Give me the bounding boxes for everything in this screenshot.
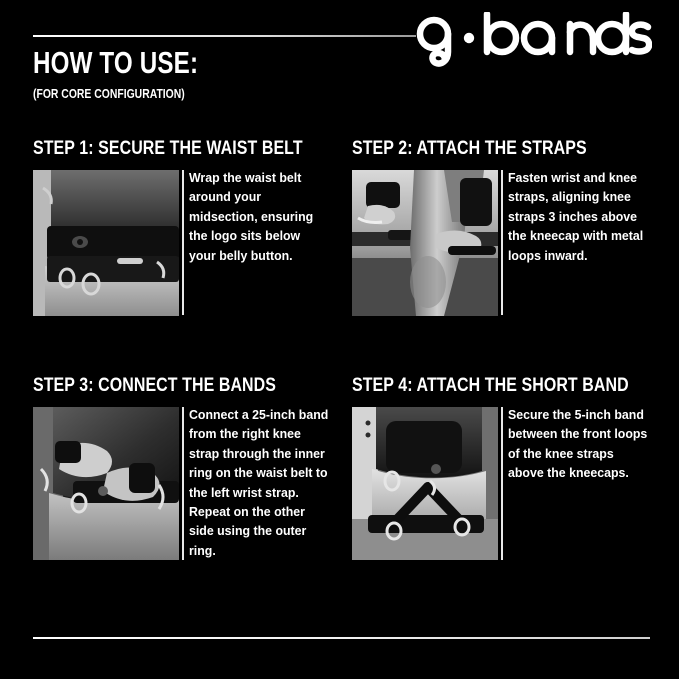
step-1-heading: STEP 1: SECURE THE WAIST BELT xyxy=(33,138,285,160)
instruction-poster: HOW TO USE: (FOR CORE CONFIGURATION) xyxy=(0,0,679,679)
footer-rule xyxy=(33,637,650,639)
step-4-body: Secure the 5-inch band between the front… xyxy=(352,407,652,562)
step-4-photo xyxy=(352,407,498,560)
step-3-divider xyxy=(182,407,184,560)
step-1-photo xyxy=(33,170,179,316)
poster-header: HOW TO USE: (FOR CORE CONFIGURATION) xyxy=(0,0,679,130)
step-card-2: STEP 2: ATTACH THE STRAPS xyxy=(352,138,652,325)
step-3-body: Connect a 25-inch band from the right kn… xyxy=(33,407,333,562)
step-4-divider xyxy=(501,407,503,560)
step-4-heading: STEP 4: ATTACH THE SHORT BAND xyxy=(352,375,604,397)
page-title: HOW TO USE: xyxy=(33,46,198,80)
step-2-divider xyxy=(501,170,503,315)
step-1-text: Wrap the waist belt around your midsecti… xyxy=(189,168,330,265)
page-subtitle: (FOR CORE CONFIGURATION) xyxy=(33,86,185,101)
header-rule xyxy=(33,35,416,37)
steps-grid: STEP 1: SECURE THE WAIST BELT xyxy=(0,130,679,600)
step-3-photo xyxy=(33,407,179,560)
step-2-photo xyxy=(352,170,498,316)
step-2-text: Fasten wrist and knee straps, aligning k… xyxy=(508,168,649,265)
step-1-body: Wrap the waist belt around your midsecti… xyxy=(33,170,333,325)
step-2-body: Fasten wrist and knee straps, aligning k… xyxy=(352,170,652,325)
step-4-text: Secure the 5-inch band between the front… xyxy=(508,405,649,483)
step-3-text: Connect a 25-inch band from the right kn… xyxy=(189,405,330,560)
step-3-heading: STEP 3: CONNECT THE BANDS xyxy=(33,375,285,397)
step-1-divider xyxy=(182,170,184,315)
qbands-logo xyxy=(412,12,652,74)
step-card-1: STEP 1: SECURE THE WAIST BELT xyxy=(33,138,333,325)
step-2-heading: STEP 2: ATTACH THE STRAPS xyxy=(352,138,604,160)
step-card-4: STEP 4: ATTACH THE SHORT BAND xyxy=(352,375,652,562)
step-card-3: STEP 3: CONNECT THE BANDS xyxy=(33,375,333,562)
